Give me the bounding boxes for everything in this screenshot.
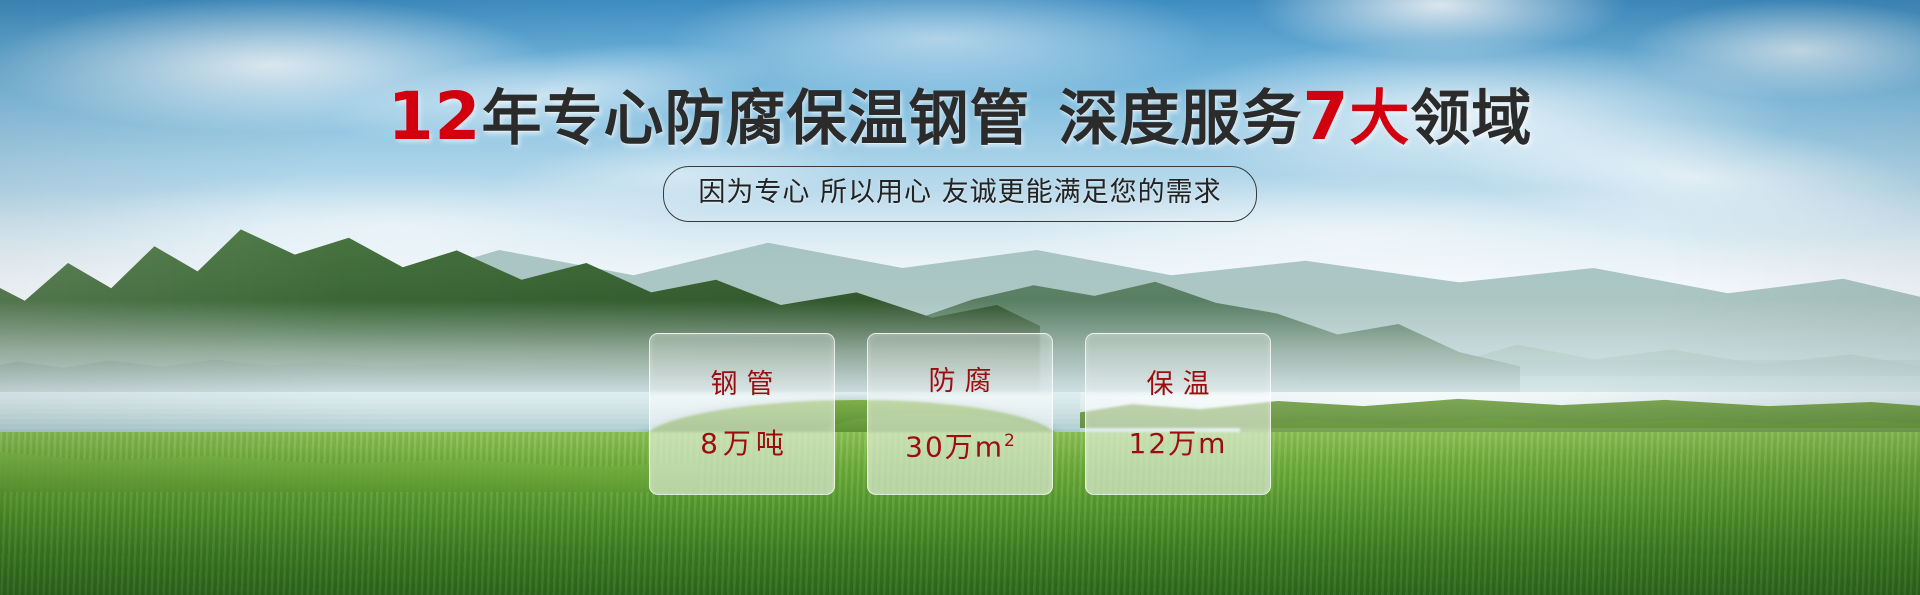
stat-card-steel-pipe[interactable]: 钢管 8万吨 xyxy=(649,333,835,495)
stat-card-value: 30万m2 xyxy=(905,424,1015,464)
headline-fields-number: 7 xyxy=(1302,78,1349,155)
banner-content: 12年专心防腐保温钢管深度服务7大领域 因为专心 所以用心 友诚更能满足您的需求… xyxy=(0,0,1920,595)
stat-card-insulation[interactable]: 保温 12万m xyxy=(1085,333,1271,495)
subtitle-pill: 因为专心 所以用心 友诚更能满足您的需求 xyxy=(663,166,1256,222)
headline-main-part-2: 深度服务 xyxy=(1058,84,1302,154)
stat-card-value: 8万吨 xyxy=(695,427,789,461)
stat-card-title: 钢管 xyxy=(702,367,783,403)
stat-card-value-text: 12万m xyxy=(1129,427,1228,460)
headline-main-part-1: 专心防腐保温钢管 xyxy=(542,84,1030,154)
stat-card-value-text: 30万m xyxy=(905,430,1004,463)
headline-main-part-3: 领域 xyxy=(1410,84,1532,154)
stat-cards: 钢管 8万吨 防腐 30万m2 保温 12万m xyxy=(0,333,1920,495)
stat-card-anticorrosion[interactable]: 防腐 30万m2 xyxy=(867,333,1053,495)
stat-card-value: 12万m xyxy=(1129,427,1228,461)
hero-banner: 12年专心防腐保温钢管深度服务7大领域 因为专心 所以用心 友诚更能满足您的需求… xyxy=(0,0,1920,595)
stat-card-title: 保温 xyxy=(1138,367,1219,403)
headline: 12年专心防腐保温钢管深度服务7大领域 xyxy=(0,84,1920,152)
stat-card-value-text: 8万吨 xyxy=(700,427,789,460)
subtitle-container: 因为专心 所以用心 友诚更能满足您的需求 xyxy=(0,166,1920,222)
headline-years-number: 12 xyxy=(388,78,482,155)
stat-card-title: 防腐 xyxy=(920,364,1001,400)
stat-card-value-superscript: 2 xyxy=(1004,431,1015,451)
headline-years-unit: 年 xyxy=(481,84,542,154)
headline-fields-unit: 大 xyxy=(1349,84,1410,154)
